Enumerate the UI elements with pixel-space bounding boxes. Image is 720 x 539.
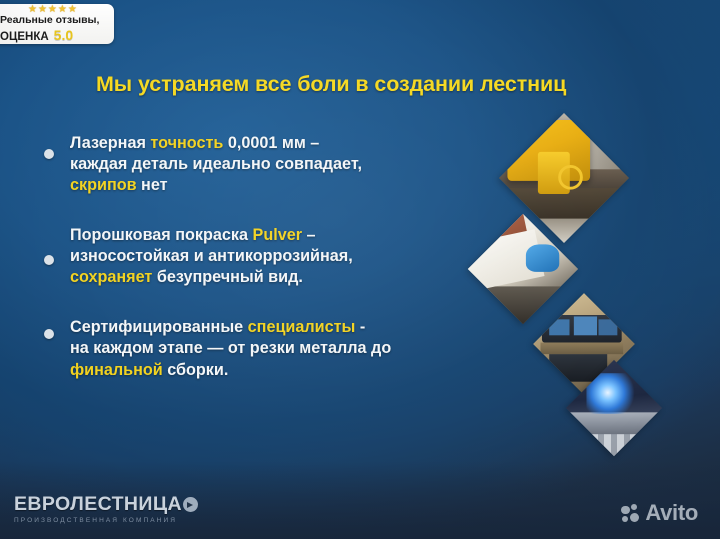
benefits-list: Лазерная точность 0,0001 мм – каждая дет… — [40, 133, 520, 410]
badge-score-value: 5.0 — [54, 27, 73, 43]
benefit-line3-suffix: нет — [137, 176, 168, 194]
benefit-line3-suffix: безупречный вид. — [152, 268, 303, 286]
benefit-line2: износостойкая и антикоррозийная, — [70, 247, 353, 265]
logo-play-mark-icon — [183, 497, 198, 512]
list-item: Лазерная точность 0,0001 мм – каждая дет… — [40, 133, 520, 196]
logo-wordmark-row: ЕВРОЛЕСТНИЦА — [14, 493, 198, 516]
benefit-line3-highlight: сохраняет — [70, 268, 152, 286]
avito-watermark: Avito — [621, 500, 698, 526]
logo-wordmark: ЕВРОЛЕСТНИЦА — [14, 493, 182, 515]
badge-score-label: ОЦЕНКА — [0, 31, 49, 43]
benefit-line3-suffix: сборки. — [163, 361, 229, 379]
benefit-line1-suffix: – — [302, 226, 316, 244]
badge-reviews-label: Реальные отзывы, — [0, 14, 99, 26]
benefit-line3-highlight: скрипов — [70, 176, 137, 194]
review-rating-badge: ★★★★★ Реальные отзывы, ОЦЕНКА5.0 — [0, 4, 114, 44]
benefit-line1-highlight: Pulver — [253, 226, 303, 244]
benefit-line1-prefix: Сертифицированные — [70, 318, 248, 336]
benefit-line2: на каждом этапе — от резки металла до — [70, 339, 391, 357]
avito-wordmark: Avito — [645, 500, 698, 526]
benefit-line1-suffix: 0,0001 мм – — [223, 134, 319, 152]
logo-tagline: производственная компания — [14, 517, 198, 524]
list-item: Сертифицированные специалисты - на каждо… — [40, 317, 520, 380]
benefit-line1-prefix: Порошковая покраска — [70, 226, 253, 244]
promo-slide: ★★★★★ Реальные отзывы, ОЦЕНКА5.0 Мы устр… — [0, 0, 720, 539]
benefit-line1-suffix: - — [355, 318, 365, 336]
page-title: Мы устраняем все боли в создании лестниц — [96, 72, 666, 97]
bullet-dot-icon — [44, 329, 54, 339]
benefit-line1-highlight: специалисты — [248, 318, 356, 336]
list-item: Порошковая покраска Pulver – износостойк… — [40, 225, 520, 288]
company-logo: ЕВРОЛЕСТНИЦА производственная компания — [14, 493, 198, 524]
benefit-line1-highlight: точность — [150, 134, 223, 152]
benefit-line1-prefix: Лазерная — [70, 134, 150, 152]
badge-score-row: ОЦЕНКА5.0 — [0, 27, 73, 43]
bullet-dot-icon — [44, 255, 54, 265]
photo-collage — [470, 112, 720, 482]
benefit-text: Лазерная точность 0,0001 мм – каждая дет… — [70, 133, 520, 196]
bullet-dot-icon — [44, 149, 54, 159]
benefit-line3-highlight: финальной — [70, 361, 163, 379]
benefit-line2: каждая деталь идеально совпадает, — [70, 155, 362, 173]
benefit-text: Сертифицированные специалисты - на каждо… — [70, 317, 520, 380]
avito-dots-icon — [621, 504, 640, 523]
benefit-text: Порошковая покраска Pulver – износостойк… — [70, 225, 520, 288]
